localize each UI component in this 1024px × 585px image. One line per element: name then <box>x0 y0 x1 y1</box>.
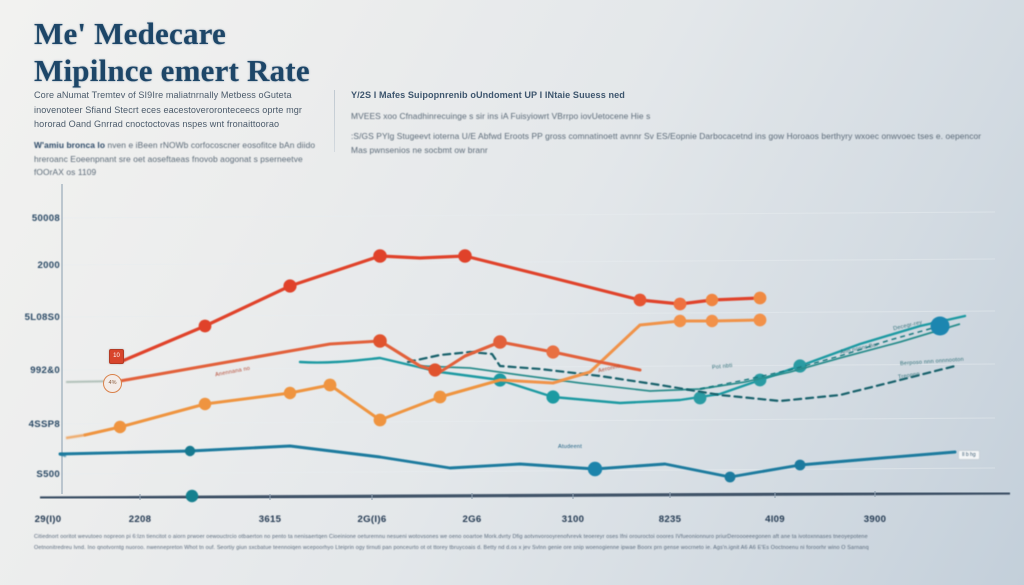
series-red-primary <box>120 249 766 362</box>
y-tick-label-3: 992&0 <box>2 365 60 376</box>
lede-left-secondary: W'amiu bronca lo nven e iBeen rNOWb corf… <box>34 139 320 180</box>
footer-line-2: Oetnonitredreu lvnd. Ino qnotvorntg nuor… <box>34 543 992 554</box>
y-tick-label-5: S500 <box>2 469 60 480</box>
lede-left-para-2: W'amiu bronca lo nven e iBeen rNOWb corf… <box>34 139 320 180</box>
lede-right-body: MVEES xoo Cfnadhinrecuinge s sir ins iA … <box>351 110 994 158</box>
header-divider <box>334 90 335 152</box>
page-title: Me' Medecare Mipilnce emert Rate <box>34 16 354 89</box>
lede-right-para-2: :S/GS PYlg Stugeevt ioterna U/E Abfwd Er… <box>351 130 994 157</box>
tag-box-right-endpoint: Il b hg <box>958 450 980 460</box>
series-teal-dashed <box>408 352 955 401</box>
lede-left-primary: Core aNumat Tremtev of SI9Ire maliatnrna… <box>34 88 320 132</box>
series-teal <box>300 316 965 404</box>
y-tick-label-2: 5L08S0 <box>2 312 60 323</box>
title-line-1: Me' Medecare <box>34 16 226 51</box>
y-tick-label-4: 4SSP8 <box>2 419 60 430</box>
header-column-left: Core aNumat Tremtev of SI9Ire maliatnrna… <box>34 88 334 166</box>
lede-right-para-1: MVEES xoo Cfnadhinrecuinge s sir ins iA … <box>351 110 994 124</box>
header: Me' Medecare Mipilnce emert Rate Core aN… <box>0 0 1024 172</box>
lede-right-strong: Y/2S I Mafes Suipopnrenib oUndoment UP I… <box>351 88 994 103</box>
x-axis-point-marker <box>186 490 198 502</box>
inline-note-steelblue: Atudeent <box>558 444 582 450</box>
infographic-page: Me' Medecare Mipilnce emert Rate Core aN… <box>0 0 1024 585</box>
header-columns: Core aNumat Tremtev of SI9Ire maliatnrna… <box>34 88 994 166</box>
series-steelblue <box>60 446 955 483</box>
square-marker-badge[interactable]: 10 <box>109 349 124 364</box>
y-tick-label-0: 50008 <box>2 213 60 224</box>
lede-left-para-1: Core aNumat Tremtev of SI9Ire maliatnrna… <box>34 88 320 132</box>
lede-right-primary: Y/2S I Mafes Suipopnrenib oUndoment UP I… <box>351 88 994 103</box>
header-column-right: Y/2S I Mafes Suipopnrenib oUndoment UP I… <box>351 88 994 166</box>
footer-caption: Citiednort ooritot wevutoeo nopreon pi 6… <box>34 532 992 553</box>
footer-line-1: Citiednort ooritot wevutoeo nopreon pi 6… <box>34 532 992 543</box>
y-tick-label-1: 2000 <box>2 260 60 271</box>
gridlines <box>62 212 995 474</box>
title-line-2: Mipilnce emert Rate <box>34 53 354 90</box>
lede-left-strong: W'amiu bronca lo <box>34 140 105 150</box>
x-axis-line <box>40 493 1010 498</box>
circle-marker-badge[interactable]: 4% <box>103 374 122 393</box>
